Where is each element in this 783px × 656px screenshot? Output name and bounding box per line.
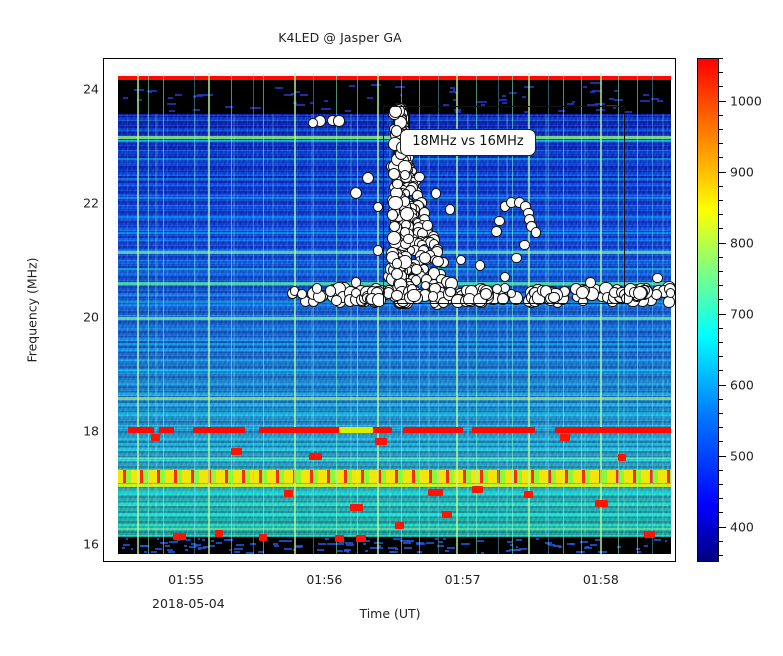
- colorbar-tick-minor: [719, 58, 723, 59]
- colorbar-tick-minor: [719, 498, 723, 499]
- colorbar-tick: [719, 456, 726, 457]
- y-tick-minor: [103, 147, 104, 148]
- y-tick: [103, 545, 104, 546]
- colorbar-tick-minor: [719, 86, 723, 87]
- scatter-point: [333, 115, 345, 127]
- y-tick: [103, 90, 104, 91]
- date-label: 2018-05-04: [152, 596, 225, 611]
- y-tick: [103, 432, 104, 433]
- colorbar-tick: [719, 385, 726, 386]
- colorbar-tick-label: 900: [730, 164, 754, 179]
- x-axis-label: Time (UT): [359, 606, 420, 621]
- colorbar-tick-minor: [719, 427, 723, 428]
- colorbar-tick-minor: [719, 441, 723, 442]
- colorbar-tick-minor: [719, 399, 723, 400]
- colorbar-tick-label: 500: [730, 448, 754, 463]
- colorbar-tick-minor: [719, 470, 723, 471]
- colorbar-tick-minor: [719, 328, 723, 329]
- y-tick-minor: [103, 261, 104, 262]
- colorbar-tick-minor: [719, 143, 723, 144]
- y-tick: [103, 204, 104, 205]
- y-tick-label: 24: [83, 82, 99, 97]
- plot-area[interactable]: 18MHz vs 16MHz: [103, 58, 676, 562]
- colorbar-tick-minor: [719, 228, 723, 229]
- colorbar-tick-label: 400: [730, 519, 754, 534]
- y-tick-label: 16: [83, 537, 99, 552]
- y-axis-label: Frequency (MHz): [25, 257, 40, 362]
- colorbar-tick-minor: [719, 512, 723, 513]
- colorbar-tick-minor: [719, 200, 723, 201]
- colorbar-tick-minor: [719, 342, 723, 343]
- colorbar-tick: [719, 527, 726, 528]
- colorbar-tick-minor: [719, 356, 723, 357]
- colorbar-tick-minor: [719, 271, 723, 272]
- spectrogram-figure: K4LED @ Jasper GA Frequency (MHz) Time (…: [0, 0, 783, 656]
- page-title: K4LED @ Jasper GA: [0, 30, 680, 45]
- scatter-point: [312, 283, 323, 294]
- colorbar-tick-minor: [719, 370, 723, 371]
- colorbar-tick-minor: [719, 484, 723, 485]
- colorbar-tick-minor: [719, 186, 723, 187]
- colorbar-tick-label: 800: [730, 235, 754, 250]
- x-tick-label: 01:55: [168, 572, 204, 587]
- colorbar-gradient: [697, 58, 719, 562]
- x-tick-label: 01:58: [583, 572, 619, 587]
- y-tick-label: 18: [83, 423, 99, 438]
- colorbar-tick: [719, 101, 726, 102]
- colorbar-tick-label: 1000: [730, 93, 762, 108]
- colorbar-tick-label: 600: [730, 377, 754, 392]
- y-tick-label: 22: [83, 195, 99, 210]
- colorbar-tick-minor: [719, 157, 723, 158]
- colorbar-tick-minor: [719, 299, 723, 300]
- y-tick-minor: [103, 489, 104, 490]
- x-tick-label: 01:56: [306, 572, 342, 587]
- colorbar-tick-minor: [719, 285, 723, 286]
- scatter-point: [663, 296, 674, 307]
- colorbar-tick-minor: [719, 257, 723, 258]
- colorbar-tick-minor: [719, 115, 723, 116]
- colorbar-tick-minor: [719, 214, 723, 215]
- colorbar-tick: [719, 243, 726, 244]
- y-tick: [103, 318, 104, 319]
- scatter-point: [297, 289, 307, 299]
- colorbar-tick-minor: [719, 413, 723, 414]
- colorbar-tick-minor: [719, 72, 723, 73]
- scatter-point: [652, 273, 663, 284]
- annotation-label: 18MHz vs 16MHz: [400, 129, 535, 155]
- scatter-point: [373, 202, 384, 213]
- scatter-point: [308, 118, 318, 128]
- colorbar-tick: [719, 314, 726, 315]
- colorbar: 4005006007008009001000: [697, 58, 719, 562]
- colorbar-tick-minor: [719, 541, 723, 542]
- y-tick-label: 20: [83, 309, 99, 324]
- scatter-point: [373, 245, 383, 255]
- x-tick-label: 01:57: [445, 572, 481, 587]
- colorbar-tick-label: 700: [730, 306, 754, 321]
- colorbar-tick-minor: [719, 129, 723, 130]
- scatter-point: [350, 187, 362, 199]
- colorbar-tick: [719, 172, 726, 173]
- scatter-point: [331, 295, 342, 306]
- colorbar-tick-minor: [719, 555, 723, 556]
- scatter-point: [666, 288, 676, 298]
- scatter-point: [362, 172, 374, 184]
- y-tick-minor: [103, 375, 104, 376]
